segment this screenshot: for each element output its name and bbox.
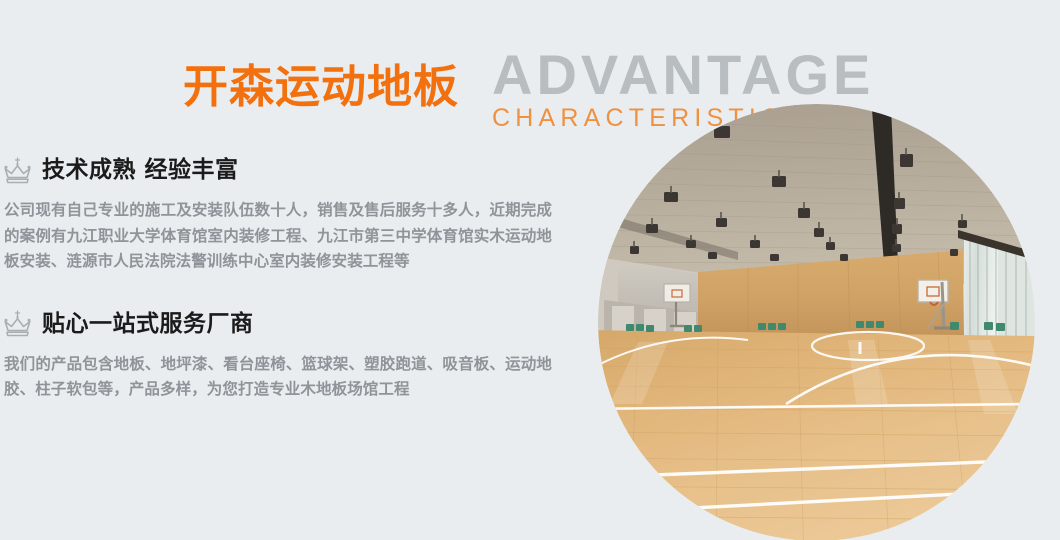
feature-description: 公司现有自己专业的施工及安装队伍数十人，销售及售后服务十多人，近期完成的案例有九…	[0, 198, 552, 275]
feature-title: 技术成熟 经验丰富	[42, 155, 239, 185]
crown-icon	[2, 157, 33, 184]
gymnasium-photo-illustration	[598, 104, 1035, 540]
feature-block: 贴心一站式服务厂商 我们的产品包含地板、地坪漆、看台座椅、篮球架、塑胶跑道、吸音…	[0, 309, 570, 403]
page-header: 开森运动地板 ADVANTAGE CHARACTERISTIC	[0, 26, 860, 118]
feature-block: 技术成熟 经验丰富 公司现有自己专业的施工及安装队伍数十人，销售及售后服务十多人…	[0, 155, 570, 275]
crown-icon	[2, 310, 33, 337]
feature-list: 技术成熟 经验丰富 公司现有自己专业的施工及安装队伍数十人，销售及售后服务十多人…	[0, 155, 570, 403]
title-english-main: ADVANTAGE	[492, 48, 874, 102]
page-title: 开森运动地板	[183, 64, 459, 110]
feature-heading: 技术成熟 经验丰富	[0, 155, 570, 185]
feature-heading: 贴心一站式服务厂商	[0, 309, 570, 339]
feature-title: 贴心一站式服务厂商	[42, 309, 254, 339]
gymnasium-photo	[598, 104, 1035, 540]
advantage-banner: 开森运动地板 ADVANTAGE CHARACTERISTIC	[0, 0, 1060, 540]
feature-description: 我们的产品包含地板、地坪漆、看台座椅、篮球架、塑胶跑道、吸音板、运动地胶、柱子软…	[0, 352, 552, 403]
